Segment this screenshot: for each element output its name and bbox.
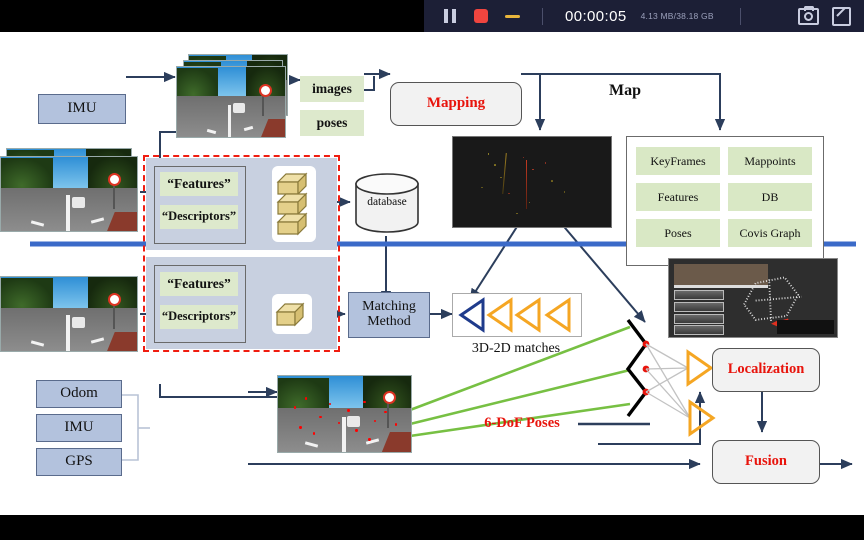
matching-method-line1: Matching bbox=[362, 300, 416, 315]
map-cell-db[interactable]: DB bbox=[728, 183, 812, 211]
minimize-button[interactable] bbox=[488, 15, 520, 18]
expand-button[interactable] bbox=[832, 7, 851, 26]
pause-button[interactable] bbox=[424, 8, 458, 24]
map-cell-features[interactable]: Features bbox=[636, 183, 720, 211]
correspondence-fan bbox=[646, 344, 690, 418]
pause-icon bbox=[442, 8, 458, 24]
screen: 00:00:05 4.13 MB/38.18 GB bbox=[0, 0, 864, 540]
descriptor-cube-bottom bbox=[272, 294, 312, 334]
minimize-icon bbox=[505, 15, 520, 18]
matching-method-box[interactable]: Matching Method bbox=[348, 292, 430, 338]
epipolar-zigzag bbox=[628, 320, 646, 416]
zigzag-points bbox=[643, 341, 650, 396]
localization-view-image bbox=[668, 258, 838, 338]
label-features-bottom: “Features” bbox=[160, 272, 238, 296]
live-frame-image bbox=[277, 375, 412, 453]
sensor-box-imu-top[interactable]: IMU bbox=[38, 94, 126, 124]
map-title: Map bbox=[592, 80, 658, 102]
label-poses: poses bbox=[300, 110, 364, 136]
map-cell-mappoints[interactable]: Mappoints bbox=[728, 147, 812, 175]
screenshot-button[interactable] bbox=[798, 8, 819, 25]
query-frustum-icon bbox=[461, 300, 483, 330]
matching-method-line2: Method bbox=[367, 315, 411, 330]
stop-button[interactable] bbox=[458, 9, 488, 23]
image-stack-front bbox=[176, 66, 286, 138]
map-cell-covis-graph[interactable]: Covis Graph bbox=[728, 219, 812, 247]
label-images: images bbox=[300, 76, 364, 102]
expand-icon bbox=[832, 7, 851, 26]
recorder-toolbar: 00:00:05 4.13 MB/38.18 GB bbox=[424, 0, 864, 32]
poses-label: 6-DoF Poses bbox=[466, 413, 578, 435]
camera-icon bbox=[798, 8, 819, 25]
slide-canvas: IMU images poses Mapping Map KeyFrame bbox=[0, 32, 864, 515]
sensor-box-odom[interactable]: Odom bbox=[36, 380, 122, 408]
fusion-box[interactable]: Fusion bbox=[712, 440, 820, 484]
database-label: database bbox=[352, 192, 422, 212]
query-image-bottom bbox=[0, 276, 138, 352]
recording-timer: 00:00:05 bbox=[565, 8, 627, 25]
toolbar-divider bbox=[542, 8, 543, 25]
map-cell-poses[interactable]: Poses bbox=[636, 219, 720, 247]
matches-frustum-strip bbox=[452, 293, 582, 337]
stop-icon bbox=[474, 9, 488, 23]
toolbar-divider-2 bbox=[740, 8, 741, 25]
label-descriptors-top: “Descriptors” bbox=[160, 205, 238, 229]
storage-status: 4.13 MB/38.18 GB bbox=[641, 11, 714, 21]
map-pointcloud-image bbox=[452, 136, 612, 228]
pose-frustum-icons bbox=[688, 352, 713, 434]
screen-footer bbox=[0, 515, 864, 540]
localization-box[interactable]: Localization bbox=[712, 348, 820, 392]
mapping-box[interactable]: Mapping bbox=[390, 82, 522, 126]
label-features-top: “Features” bbox=[160, 172, 238, 196]
sensor-box-imu-bottom[interactable]: IMU bbox=[36, 414, 122, 442]
query-image-top bbox=[0, 156, 138, 232]
sensor-box-gps[interactable]: GPS bbox=[36, 448, 122, 476]
matches-label: 3D-2D matches bbox=[452, 338, 580, 360]
label-descriptors-bottom: “Descriptors” bbox=[160, 305, 238, 329]
descriptor-stack-top bbox=[272, 166, 316, 242]
sensor-bracket bbox=[120, 395, 150, 460]
map-cell-keyframes[interactable]: KeyFrames bbox=[636, 147, 720, 175]
